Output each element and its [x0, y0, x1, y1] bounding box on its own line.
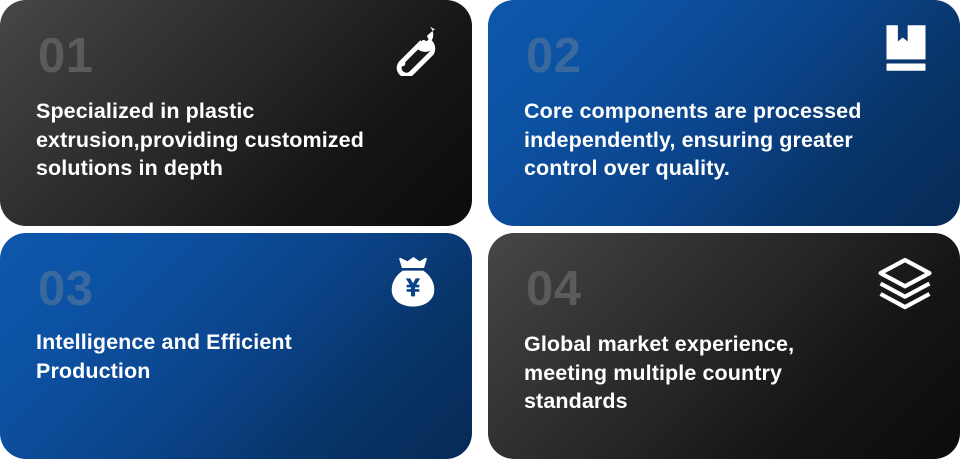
feature-card-03[interactable]: 03 Intelligence and Efficient Production	[0, 233, 472, 459]
layers-stack-icon	[876, 255, 934, 313]
feature-card-02[interactable]: 02 Core components are processed indepen…	[488, 0, 960, 226]
card-number-02: 02	[526, 32, 934, 81]
card-headline-04: Global market experience, meeting multip…	[524, 330, 934, 416]
money-bag-yen-icon	[384, 253, 442, 311]
card-headline-03: Intelligence and Efficient Production	[36, 328, 446, 385]
wrench-icon	[390, 24, 442, 76]
card-number-01: 01	[38, 32, 446, 81]
book-bookmark-icon	[880, 22, 932, 74]
feature-card-04[interactable]: 04 Global market experience, meeting mul…	[488, 233, 960, 459]
card-headline-02: Core components are processed independen…	[524, 97, 934, 183]
card-headline-01: Specialized in plastic extrusion,providi…	[36, 97, 446, 183]
card-number-04: 04	[526, 265, 934, 314]
feature-card-grid: 01 Specialized in plastic extrusion,prov…	[0, 0, 960, 459]
feature-card-01[interactable]: 01 Specialized in plastic extrusion,prov…	[0, 0, 472, 226]
